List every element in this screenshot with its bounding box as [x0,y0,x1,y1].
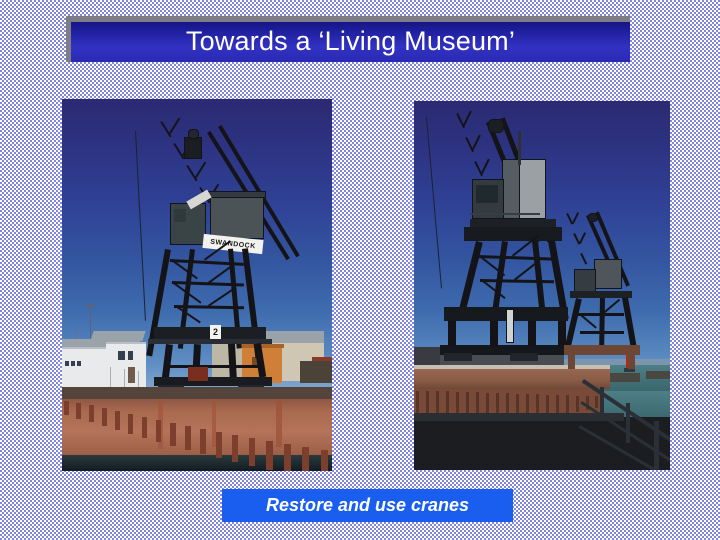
distant-dark-mass [300,361,332,383]
orange-shed-roof [240,344,284,348]
crane-b-sheave-head [588,213,598,222]
piling [302,447,309,471]
piling [142,417,147,438]
piling [128,414,133,434]
apron-shadow-edge [414,413,624,421]
piling [89,405,94,422]
water [62,455,332,471]
piling [76,403,81,419]
photo-right-cranes [414,101,670,470]
crane-b-brace-2 [580,331,624,334]
piling [156,420,161,442]
warehouse-door [128,367,135,383]
crane-a-portal-leg-3 [528,321,536,347]
crane-a-sheave-head [488,119,504,133]
photo-left-crane: SWANDOCK 2 [62,99,332,471]
crane-a-white-panel [506,309,514,343]
sheet-pile [556,395,559,414]
warehouse-building-right [106,342,146,389]
warehouse-window-5 [128,351,133,360]
crane-machinery-house-top [208,191,266,198]
page-title: Towards a ‘Living Museum’ [186,28,515,57]
crane-a-platform [464,227,562,241]
crane-portal-brace [166,365,262,368]
warehouse-window-2 [71,361,75,366]
dock-wall-stain-3 [276,401,282,447]
crane-b-portal-leg-2 [628,353,635,369]
title-bar: Towards a ‘Living Museum’ [71,22,630,62]
warehouse-roof-right [90,331,145,341]
crane-b-brace-1 [578,313,624,316]
handrail-post-2 [626,403,630,443]
crane-b-cab [574,269,596,293]
piling [216,432,222,458]
piling [232,435,238,462]
piling [115,411,120,430]
crane-a-portal-leg-2 [490,321,498,347]
crane-a-bogie-2 [510,353,538,361]
crane-a-handrail [470,213,540,215]
crane-b-leg-mid [599,298,605,350]
warehouse-window-3 [77,361,81,366]
piling [185,426,191,450]
crane-a-cab-window [476,185,498,203]
piling [170,423,176,446]
piling [266,441,273,470]
piling [64,401,69,415]
quay-edge-dark [62,387,332,399]
crane-pivot-head [184,137,202,159]
crane-a-ladder [518,131,521,165]
warehouse-window-4 [118,351,125,360]
piling [200,429,206,454]
wharf-deck [414,367,610,389]
piling [284,444,291,471]
warehouse-window-1 [65,361,69,366]
piling [321,450,328,471]
sheet-pile [566,395,569,413]
crane-number-plate: 2 [210,325,221,339]
crane-machinery-house [210,195,264,239]
crane-cab-window [174,209,186,222]
far-shore-buildings-2 [414,347,440,365]
crane-sheave-housing [188,129,199,139]
wharf-deck-kerb [414,365,610,369]
sheet-pile [576,396,579,412]
crane-a-bogie-1 [444,353,472,361]
sheet-pile [595,396,598,408]
handrail-post-1 [600,387,604,417]
crane-b-portal-leg-1 [568,353,575,369]
crane-counterweight [188,367,208,381]
piling [249,438,255,466]
handrail-post-3 [654,421,659,470]
caption-bar: Restore and use cranes [222,489,513,522]
foreground-apron [414,417,670,470]
moored-barge-1 [610,373,640,382]
sheet-pile [546,395,549,415]
piling [102,408,107,426]
light-pole-arm [86,304,95,306]
crane-a-walkway [470,219,556,227]
crane-a-machinery-house-shade [502,159,520,219]
crane-b-machinery-house [594,259,622,289]
moored-barge-2 [646,371,670,379]
crane-a-portal-leg-1 [448,321,456,347]
sheet-pile [536,394,539,415]
caption-text: Restore and use cranes [266,496,469,515]
slide-canvas: Towards a ‘Living Museum’ [0,0,720,540]
